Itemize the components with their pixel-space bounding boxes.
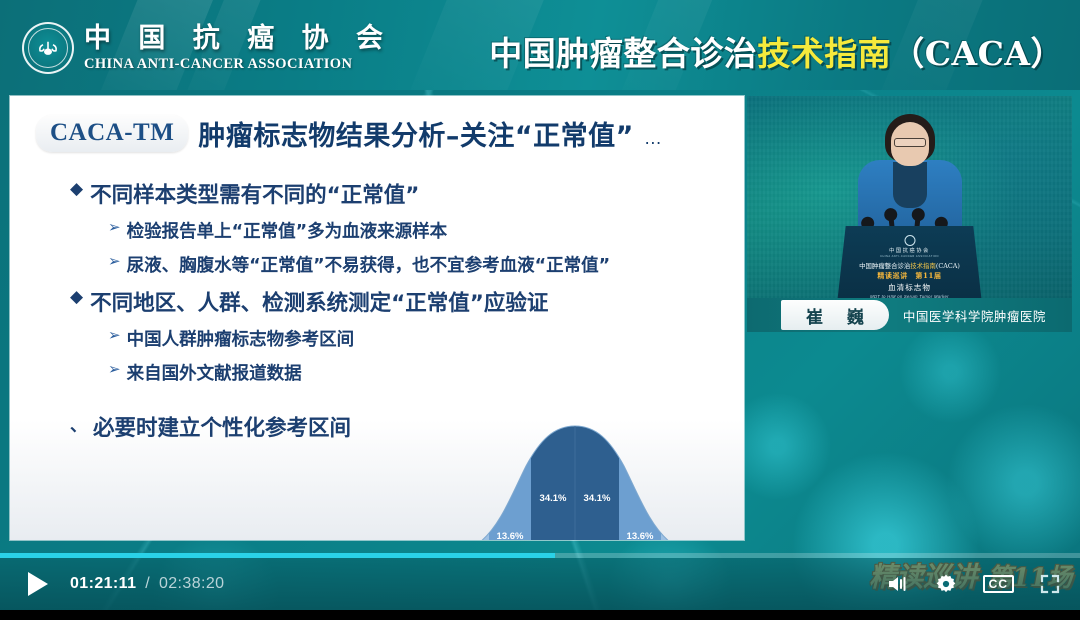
play-button[interactable] [28, 572, 48, 596]
brand-name-cn: 中 国 抗 癌 协 会 [84, 25, 392, 52]
bullet-text: 不同地区、人群、检测系统测定“正常值”应验证 [90, 286, 548, 317]
arrow-marker-icon: ➢ [108, 218, 121, 238]
bullet-level2: ➢ 尿液、胸腹水等“正常值”不易获得，也不宜参考血液“正常值” [108, 252, 730, 277]
bullet-text: 不同样本类型需有不同的“正常值” [90, 178, 419, 209]
arrow-marker-icon: ➢ [108, 252, 121, 272]
arrow-marker-icon: ➢ [108, 326, 121, 346]
podium-line1-c: (CACA) [936, 262, 960, 270]
bullet-level1: ◆ 不同样本类型需有不同的“正常值” [70, 178, 730, 209]
bullet-text: 尿液、胸腹水等“正常值”不易获得，也不宜参考血液“正常值” [127, 252, 611, 277]
slide-heading: 肿瘤标志物结果分析–关注“正常值” [198, 114, 634, 153]
bullet-level2: ➢ 检验报告单上“正常值”多为血液来源样本 [108, 218, 730, 243]
speaker-name-bar: 崔 巍 中国医学科学院肿瘤医院 [747, 298, 1072, 332]
bottom-letterbox [0, 610, 1080, 620]
speaker-glasses [894, 138, 926, 147]
caca-tm-badge-label: CACA-TM [50, 119, 174, 146]
video-player-page: 中 国 抗 癌 协 会 CHINA ANTI-CANCER ASSOCIATIO… [0, 0, 1080, 620]
page-title: 中国肿瘤整合诊治技术指南（CACA） [489, 27, 1064, 75]
bullet-text: 必要时建立个性化参考区间 [93, 411, 351, 442]
band-left-tail [408, 418, 453, 540]
normal-distribution-chart: 0.1% 2.1% 13.6% 34.1% 34.1% 13.6% 2.1% 0… [408, 418, 742, 540]
podium-line2: 精读巡讲 第11届 [877, 271, 941, 281]
player-right-controls: CC [887, 573, 1060, 595]
page-title-part1: 中国肿瘤整合诊治 [489, 34, 757, 73]
podium-org-cn: 中国抗癌协会 [889, 247, 930, 254]
captions-button[interactable]: CC [983, 575, 1014, 593]
band-right-tail [697, 418, 742, 540]
bullet-text: 来自国外文献报道数据 [127, 360, 302, 385]
gear-icon [935, 573, 957, 595]
volume-button[interactable] [887, 574, 909, 594]
diamond-marker-icon: ◆ [70, 178, 83, 201]
brand-name-en: CHINA ANTI-CANCER ASSOCIATION [84, 57, 392, 72]
speaker-affiliation: 中国医学科学院肿瘤医院 [903, 306, 1046, 325]
podium-line3: 血清标志物 [888, 282, 931, 293]
slide-bullet-list: ◆ 不同样本类型需有不同的“正常值” ➢ 检验报告单上“正常值”多为血液来源样本… [70, 178, 730, 442]
band-p2-p3 [661, 418, 697, 540]
band-m2-m1 [489, 418, 531, 540]
slide-heading-tail: … [644, 128, 662, 153]
brand-logo: 中 国 抗 癌 协 会 CHINA ANTI-CANCER ASSOCIATIO… [22, 22, 392, 74]
fullscreen-icon [1040, 574, 1060, 594]
band-label: 34.1% [540, 493, 567, 504]
total-time: 02:38:20 [159, 575, 224, 592]
bullet-text: 中国人群肿瘤标志物参考区间 [127, 326, 355, 351]
band-mu-p1 [575, 418, 619, 540]
arrow-marker-icon: ➢ [108, 360, 121, 380]
bullet-level2: ➢ 来自国外文献报道数据 [108, 360, 730, 385]
podium-line1-b: 技术指南 [910, 262, 936, 270]
slide-panel[interactable]: CACA-TM 肿瘤标志物结果分析–关注“正常值” … ◆ 不同样本类型需有不同… [10, 96, 744, 540]
band-label: 34.1% [584, 493, 611, 504]
bullet-level2: ➢ 中国人群肿瘤标志物参考区间 [108, 326, 730, 351]
band-m1-mu [531, 418, 575, 540]
podium-line1: 中国肿瘤整合诊治技术指南(CACA) [859, 261, 960, 270]
band-label: 13.6% [497, 531, 524, 540]
speaker-name-plate: 崔 巍 [781, 300, 889, 330]
player-controls-bar: 01:21:11 / 02:38:20 CC [0, 558, 1080, 610]
caca-seal-icon [22, 22, 74, 74]
tick-marker-icon: 、 [70, 411, 87, 436]
band-m3-m2 [453, 418, 489, 540]
band-p1-p2 [619, 418, 661, 540]
captions-label: CC [983, 575, 1014, 593]
current-time: 01:21:11 [70, 575, 136, 592]
time-separator: / [145, 575, 150, 592]
caca-tm-badge: CACA-TM [36, 115, 188, 152]
page-header: 中 国 抗 癌 协 会 CHINA ANTI-CANCER ASSOCIATIO… [0, 0, 1080, 90]
time-display: 01:21:11 / 02:38:20 [70, 575, 224, 593]
speaker-video-panel[interactable]: 中国抗癌协会 CHINA ANTI-CANCER ASSOCIATION 中国肿… [747, 96, 1072, 332]
podium-sign: 中国抗癌协会 CHINA ANTI-CANCER ASSOCIATION 中国肿… [837, 226, 982, 304]
page-title-part2: （CACA） [891, 34, 1064, 73]
diamond-marker-icon: ◆ [70, 286, 83, 309]
bullet-level1: ◆ 不同地区、人群、检测系统测定“正常值”应验证 [70, 286, 730, 317]
crab-glyph-icon [37, 40, 59, 58]
page-title-highlight: 技术指南 [757, 34, 891, 73]
slide-title-row: CACA-TM 肿瘤标志物结果分析–关注“正常值” … [36, 114, 662, 153]
volume-icon [887, 574, 909, 594]
speaker-scarf [893, 162, 927, 208]
band-label: 13.6% [627, 531, 654, 540]
podium-org-en: CHINA ANTI-CANCER ASSOCIATION [880, 255, 939, 258]
bullet-text: 检验报告单上“正常值”多为血液来源样本 [127, 218, 448, 243]
settings-button[interactable] [935, 573, 957, 595]
speaker-name: 崔 巍 [797, 303, 873, 328]
podium-seal-icon [904, 235, 915, 246]
fullscreen-button[interactable] [1040, 574, 1060, 594]
podium-line1-a: 中国肿瘤整合诊治 [859, 262, 910, 270]
